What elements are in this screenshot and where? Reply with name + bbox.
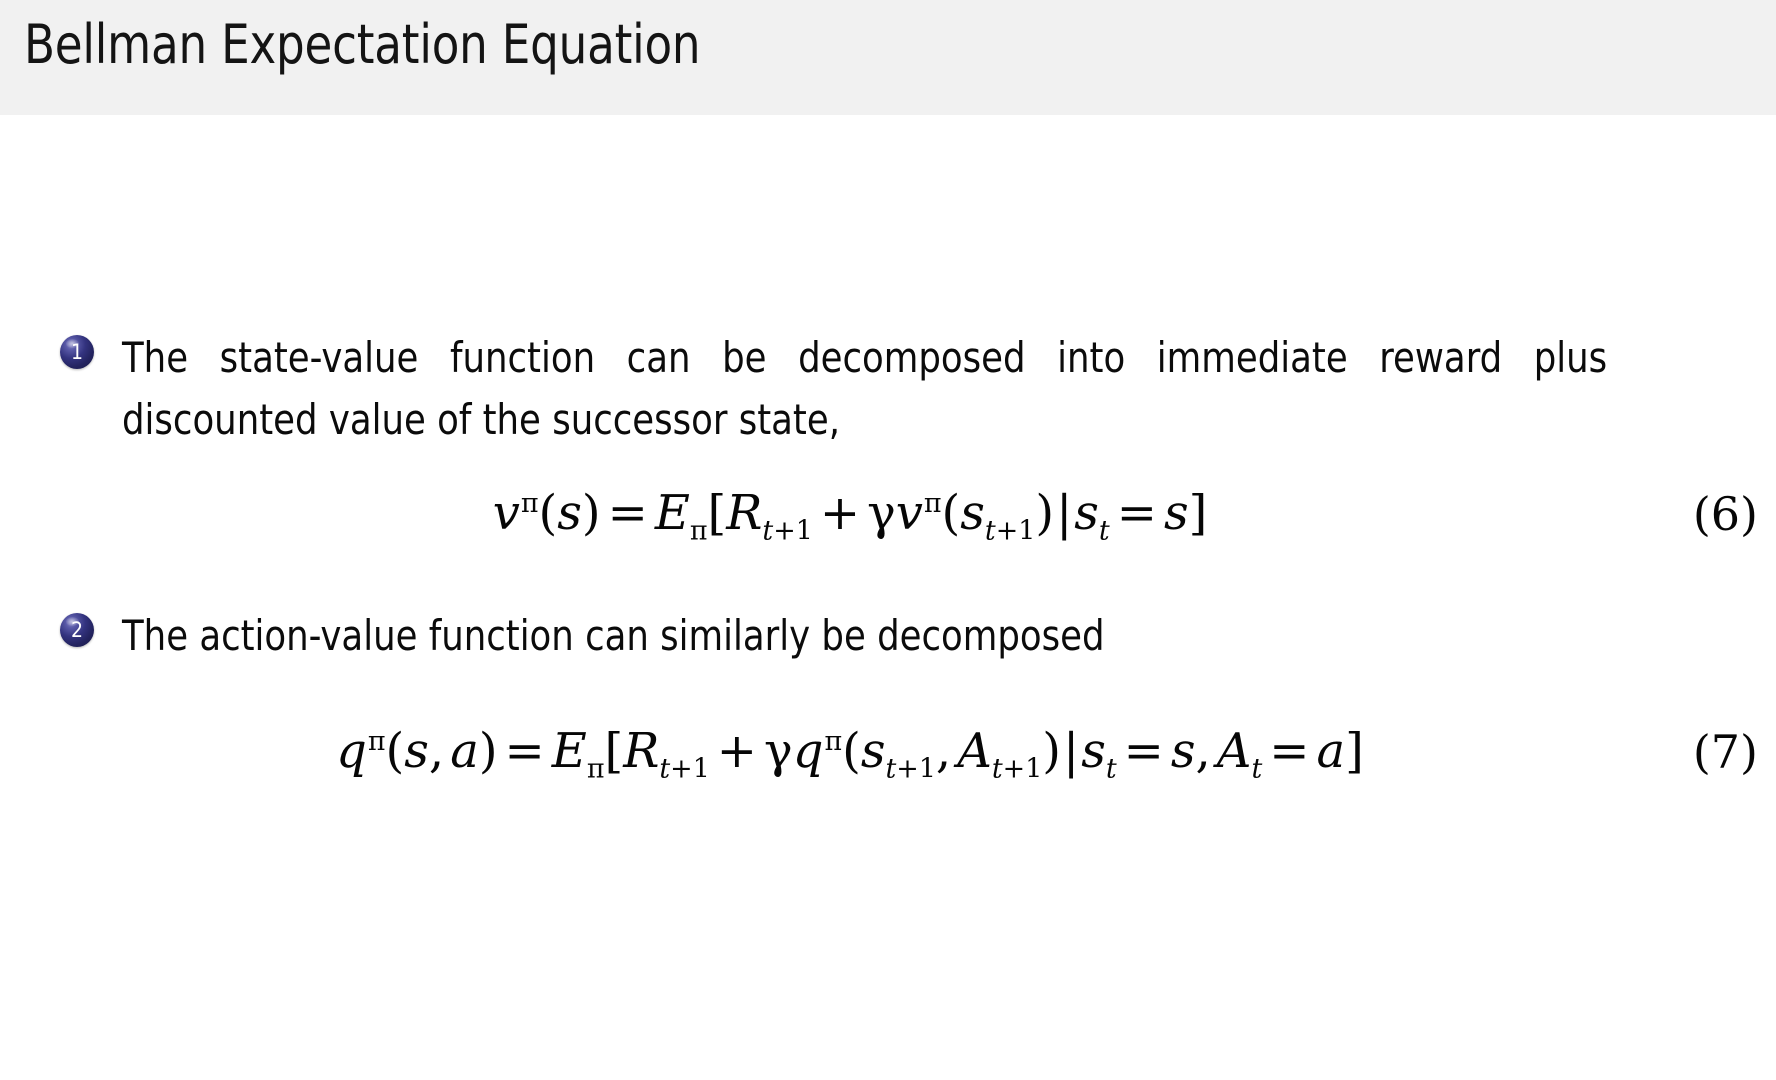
bullet-number-label: 1 (60, 335, 94, 369)
equation-block-7: qπ(s,a)=Eπ[Rt+1+γqπ(st+1,At+1)|st=s,At=a… (0, 723, 1776, 813)
list-item: 2 The action-value function can similarl… (60, 605, 1740, 667)
numbered-sphere-bullet-icon: 2 (60, 613, 94, 647)
equation-7-body: qπ(s,a)=Eπ[Rt+1+γqπ(st+1,At+1)|st=s,At=a… (0, 723, 1700, 779)
list-item: 1 The state-value function can be decomp… (60, 327, 1740, 451)
slide-content: 1 The state-value function can be decomp… (0, 115, 1776, 1080)
equation-6-body: vπ(s)=Eπ[Rt+1+γvπ(st+1)|st=s] (0, 485, 1700, 541)
list-item-text: The action-value function can similarly … (122, 605, 1643, 667)
page-title: Bellman Expectation Equation (24, 18, 700, 72)
list-item-text: The state-value function can be decompos… (122, 327, 1607, 451)
slide-header-bar: Bellman Expectation Equation (0, 0, 1776, 115)
equation-7-tag: (7) (1693, 725, 1758, 779)
numbered-sphere-bullet-icon: 1 (60, 335, 94, 369)
bullet-number-label: 2 (60, 613, 94, 647)
equation-block-6: vπ(s)=Eπ[Rt+1+γvπ(st+1)|st=s] (6) (0, 485, 1776, 575)
equation-6-tag: (6) (1693, 487, 1758, 541)
